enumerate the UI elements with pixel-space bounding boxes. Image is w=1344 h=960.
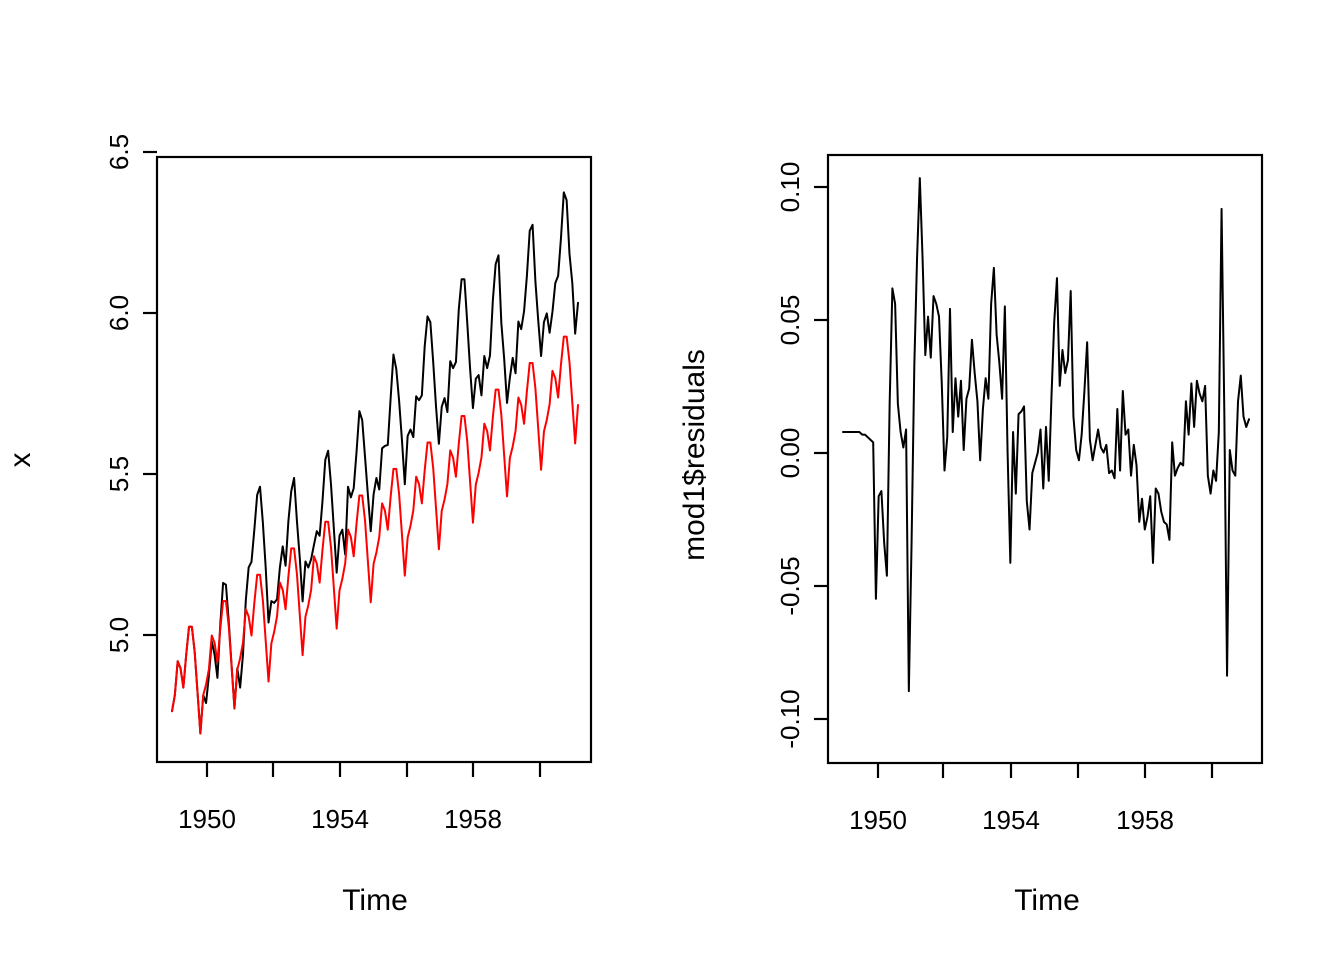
- left-yaxis-title: x: [4, 453, 37, 468]
- plot-panel-observed-vs-fitted: 6.5 6.0 5.5 5.0 1950 1954 1958 Time x: [0, 0, 672, 960]
- right-ytick-label-0: 0.10: [775, 162, 805, 213]
- series-fitted-line: [172, 337, 578, 734]
- right-x-ticks: [878, 763, 1212, 778]
- left-ytick-label-1: 6.0: [104, 295, 134, 331]
- left-xtick-label-1950: 1950: [178, 804, 236, 834]
- left-ytick-label-2: 5.5: [104, 456, 134, 492]
- right-y-ticks: [814, 187, 828, 719]
- left-panel-svg: 6.5 6.0 5.5 5.0 1950 1954 1958 Time x: [0, 0, 672, 960]
- right-xtick-label-1958: 1958: [1116, 805, 1174, 835]
- series-residuals-line: [843, 178, 1249, 691]
- left-series-group: [172, 192, 578, 733]
- left-xaxis-title: Time: [342, 884, 408, 917]
- left-x-ticks: [207, 762, 540, 777]
- figure-canvas: 6.5 6.0 5.5 5.0 1950 1954 1958 Time x: [0, 0, 1344, 960]
- right-ytick-label-1: 0.05: [775, 295, 805, 346]
- left-y-ticks: [143, 152, 157, 635]
- left-ytick-label-3: 5.0: [104, 617, 134, 653]
- series-observed-line: [172, 192, 578, 733]
- right-series-group: [843, 178, 1249, 691]
- left-plot-box: [157, 157, 591, 762]
- right-ytick-label-3: -0.05: [775, 556, 805, 615]
- right-xtick-label-1954: 1954: [982, 805, 1040, 835]
- left-xtick-label-1958: 1958: [444, 804, 502, 834]
- right-ytick-label-4: -0.10: [775, 689, 805, 748]
- right-xaxis-title: Time: [1014, 884, 1080, 917]
- right-xtick-label-1950: 1950: [849, 805, 907, 835]
- right-ytick-label-2: 0.00: [775, 428, 805, 479]
- right-panel-svg: 0.10 0.05 0.00 -0.05 -0.10 1950 1954 195…: [672, 0, 1344, 960]
- plot-panel-residuals: 0.10 0.05 0.00 -0.05 -0.10 1950 1954 195…: [672, 0, 1344, 960]
- left-xtick-label-1954: 1954: [311, 804, 369, 834]
- right-yaxis-title: mod1$residuals: [678, 349, 711, 561]
- left-ytick-label-0: 6.5: [104, 134, 134, 170]
